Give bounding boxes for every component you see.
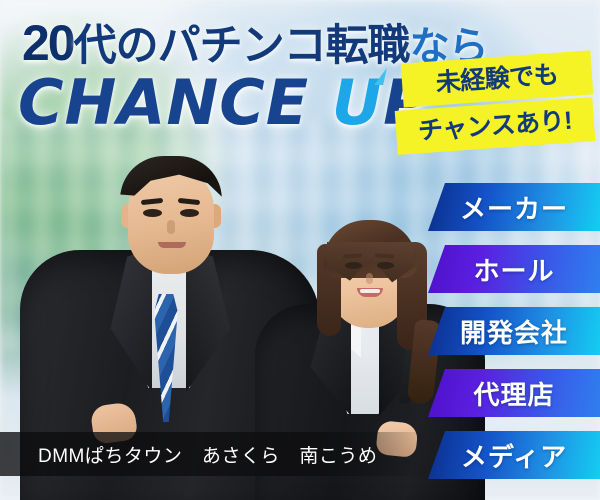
womans-left-eye [345, 262, 362, 269]
category-button-hall[interactable]: ホール [428, 245, 600, 293]
category-button-development-company[interactable]: 開発会社 [428, 307, 600, 355]
category-button-agency[interactable]: 代理店 [428, 369, 600, 417]
chance-up-logo: CHANCE UP [18, 72, 430, 134]
headline-number: 20 [22, 15, 74, 71]
logo-text-chance: CHANCE [18, 66, 332, 139]
womans-nose [366, 273, 373, 284]
mans-right-eye [180, 209, 199, 217]
promo-banner[interactable]: 20代のパチンコ転職なら CHANCE UP 未経験でも チャンスあり! メーカ… [0, 0, 600, 500]
headline-main: 代のパチンコ転職 [74, 22, 410, 70]
mans-nose [167, 220, 175, 234]
credit-bar: DMMぱちタウン あさくら 南こうめ [0, 432, 430, 476]
womans-right-eye [377, 262, 394, 269]
category-button-maker[interactable]: メーカー [428, 183, 600, 231]
logo-letter-u-accent: U [332, 72, 383, 134]
credit-text: DMMぱちタウン あさくら 南こうめ [0, 441, 377, 468]
category-button-media[interactable]: メディア [428, 431, 600, 479]
mans-mouth [158, 242, 186, 248]
womans-teeth [360, 289, 380, 293]
headline-text: 20代のパチンコ転職なら [22, 18, 488, 68]
mans-left-eye [143, 209, 162, 217]
